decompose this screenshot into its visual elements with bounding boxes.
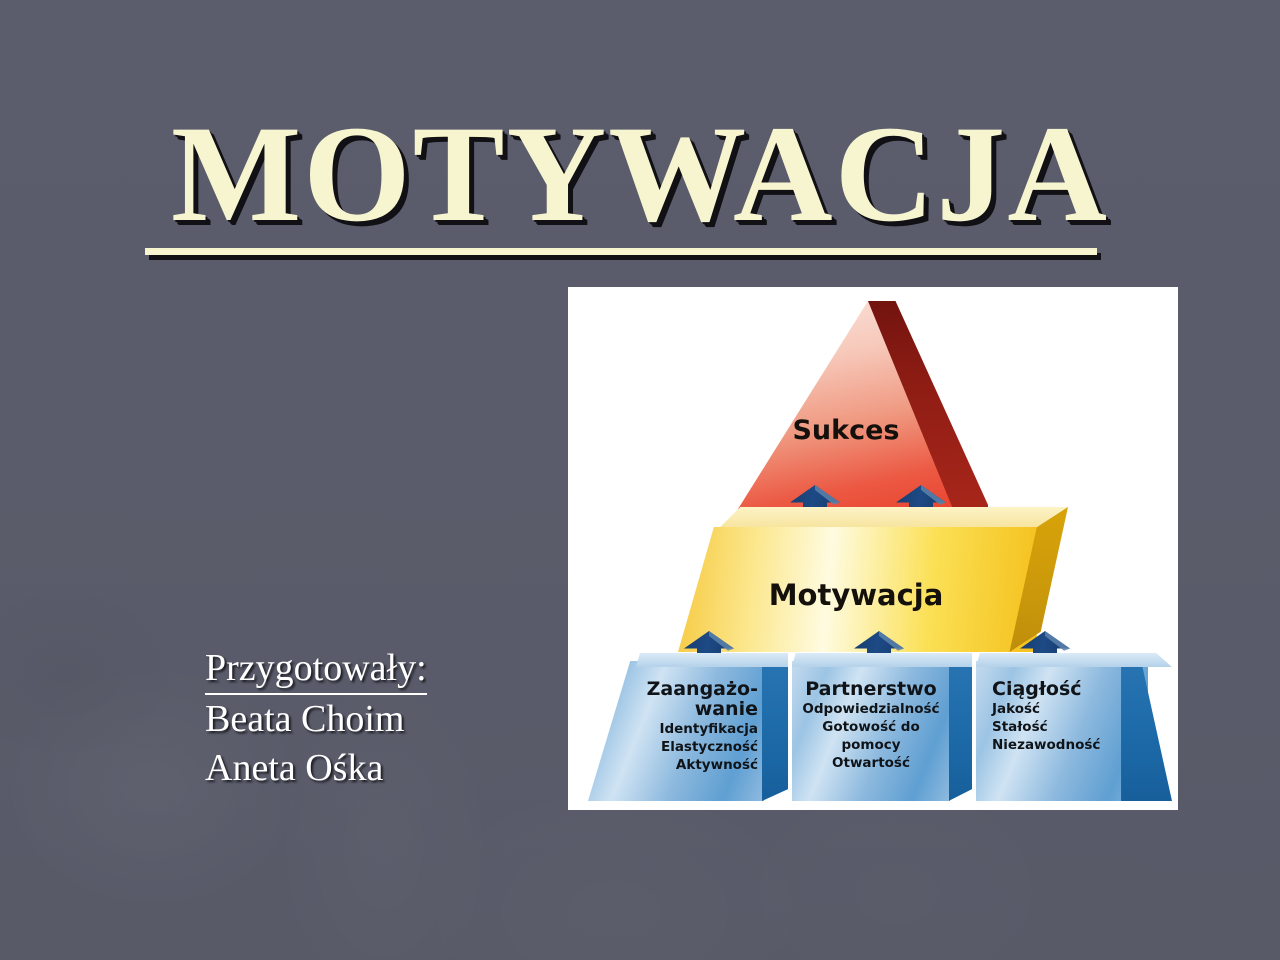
middle-label: Motywacja — [678, 578, 1034, 612]
apex-label: Sukces — [738, 415, 954, 446]
block-item: Elastyczność — [616, 739, 758, 757]
block-title: Ciągłość — [992, 679, 1114, 699]
block-top-face — [976, 653, 1172, 667]
diagram-base-block-partnerstwo: Partnerstwo Odpowiedzialność Gotowość do… — [792, 653, 972, 801]
middle-top-face — [678, 507, 1068, 530]
block-title-line-1: Zaangażo- — [647, 678, 758, 700]
block-item: Gotowość do pomocy — [798, 719, 944, 755]
block-item: Jakość — [992, 701, 1114, 719]
block-title: Zaangażo- wanie — [616, 679, 758, 719]
block-side-face — [949, 653, 972, 801]
authors-lead-line: Przygotowały: — [205, 644, 427, 695]
block-title: Partnerstwo — [798, 679, 944, 699]
block-item: Identyfikacja — [616, 721, 758, 739]
block-text: Ciągłość Jakość Stałość Niezawodność — [992, 679, 1114, 755]
page-title-underline — [145, 248, 1097, 255]
diagram-base-block-zaangazowanie: Zaangażo- wanie Identyfikacja Elastyczno… — [588, 653, 788, 801]
page-title-container: MOTYWACJA — [0, 104, 1280, 245]
block-item: Niezawodność — [992, 737, 1114, 755]
block-title-line-2: wanie — [695, 698, 758, 720]
block-top-face — [588, 653, 788, 667]
block-top-face — [792, 653, 972, 667]
block-item: Otwartość — [798, 755, 944, 773]
block-side-face — [762, 653, 788, 801]
diagram-base-block-ciaglosc: Ciągłość Jakość Stałość Niezawodność — [976, 653, 1172, 801]
authors-block: Przygotowały: Beata Choim Aneta Ośka — [205, 644, 427, 792]
motivation-pyramid-diagram: Sukces Motywacja — [568, 287, 1178, 810]
authors-lead-label: Przygotowały: — [205, 644, 427, 695]
block-text: Partnerstwo Odpowiedzialność Gotowość do… — [798, 679, 944, 772]
diagram-image-panel: Sukces Motywacja — [568, 287, 1178, 810]
author-name-2: Aneta Ośka — [205, 744, 427, 792]
diagram-apex-sukces: Sukces — [738, 301, 988, 509]
block-item: Stałość — [992, 719, 1114, 737]
page-title: MOTYWACJA — [165, 104, 1115, 245]
author-name-1: Beata Choim — [205, 695, 427, 743]
block-text: Zaangażo- wanie Identyfikacja Elastyczno… — [616, 679, 758, 775]
block-item: Aktywność — [616, 757, 758, 775]
block-item: Odpowiedzialność — [798, 701, 944, 719]
